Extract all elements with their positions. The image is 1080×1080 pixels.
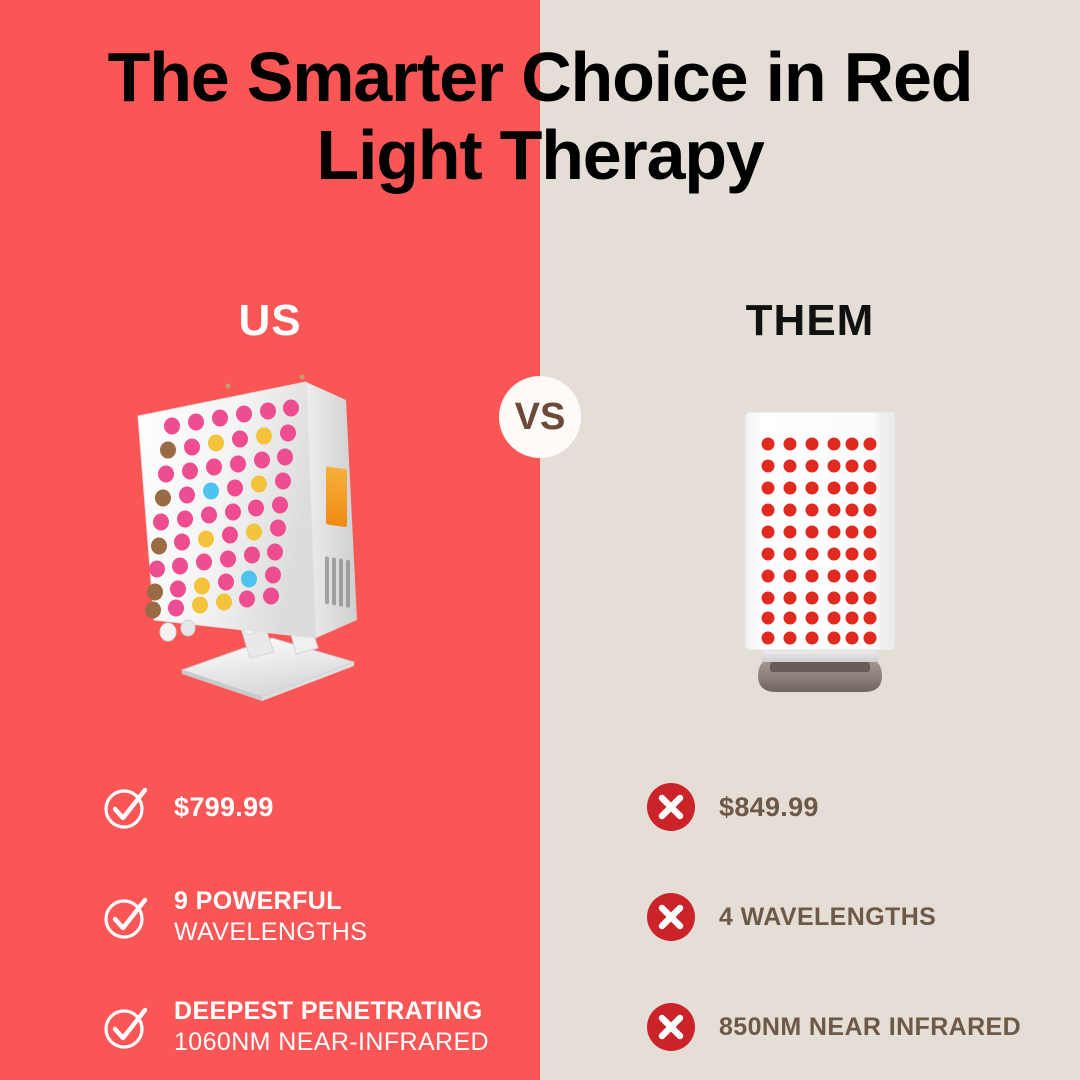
- them-penetration-headline: 850NM NEAR INFRARED: [719, 1012, 1075, 1042]
- feature-row-them-penetration: 850NM NEAR INFRARED: [645, 972, 1075, 1080]
- feature-row-us-penetration: DEEPEST PENETRATING 1060NM NEAR-INFRARED: [100, 972, 540, 1080]
- us-penetration-headline: DEEPEST PENETRATING: [174, 996, 540, 1026]
- us-wavelengths-headline: 9 POWERFUL: [174, 886, 540, 916]
- feature-row-us-price: $799.99: [100, 752, 540, 862]
- x-circle-icon: [645, 891, 697, 943]
- check-circle-icon: [100, 781, 152, 833]
- bottom-knobs: [160, 620, 195, 641]
- feature-row-us-wavelengths: 9 POWERFUL WAVELENGTHS: [100, 862, 540, 972]
- feature-list-them: $849.99 4 WAVELENGTHS 850NM NEAR INFRARE…: [645, 752, 1075, 1080]
- comparison-infographic: The Smarter Choice in Red Light Therapy …: [0, 0, 1080, 1080]
- column-heading-us: US: [0, 296, 540, 346]
- feature-row-them-price: $849.99: [645, 752, 1075, 862]
- feature-text-them-wavelengths: 4 WAVELENGTHS: [719, 902, 1075, 932]
- product-label-badge: [326, 466, 347, 527]
- page-title-line-1: The Smarter Choice in Red: [108, 38, 973, 116]
- panel-side-edge: [880, 412, 895, 650]
- x-circle-icon: [645, 1001, 697, 1053]
- feature-text-them-price: $849.99: [719, 792, 1075, 823]
- them-wavelengths-headline: 4 WAVELENGTHS: [719, 902, 1075, 932]
- feature-text-us-wavelengths: 9 POWERFUL WAVELENGTHS: [174, 886, 540, 948]
- feature-text-us-penetration: DEEPEST PENETRATING 1060NM NEAR-INFRARED: [174, 996, 540, 1058]
- us-wavelengths-subline: WAVELENGTHS: [174, 916, 540, 948]
- multi-wavelength-panel-illustration: [110, 370, 410, 710]
- page-title: The Smarter Choice in Red Light Therapy: [0, 38, 1080, 194]
- feature-list-us: $799.99 9 POWERFUL WAVELENGTHS DEEPEST P…: [100, 752, 540, 1080]
- vs-badge-label: VS: [515, 396, 566, 439]
- product-image-them: [700, 390, 940, 700]
- product-image-us: [110, 370, 410, 710]
- check-circle-icon: [100, 891, 152, 943]
- check-circle-icon: [100, 1001, 152, 1053]
- feature-text-us-price: $799.99: [174, 792, 540, 823]
- us-penetration-subline: 1060NM NEAR-INFRARED: [174, 1026, 540, 1058]
- feature-row-them-wavelengths: 4 WAVELENGTHS: [645, 862, 1075, 972]
- red-only-panel-illustration: [700, 390, 940, 700]
- them-price-value: $849.99: [719, 792, 819, 822]
- mount-pin-left: [226, 384, 231, 389]
- column-heading-them: THEM: [540, 296, 1080, 346]
- device-base: [758, 658, 882, 692]
- vs-badge: VS: [499, 376, 581, 458]
- us-price-value: $799.99: [174, 792, 274, 822]
- x-circle-icon: [645, 781, 697, 833]
- page-title-line-2: Light Therapy: [316, 116, 763, 194]
- mount-pin-right: [300, 375, 305, 380]
- feature-text-them-penetration: 850NM NEAR INFRARED: [719, 1012, 1075, 1042]
